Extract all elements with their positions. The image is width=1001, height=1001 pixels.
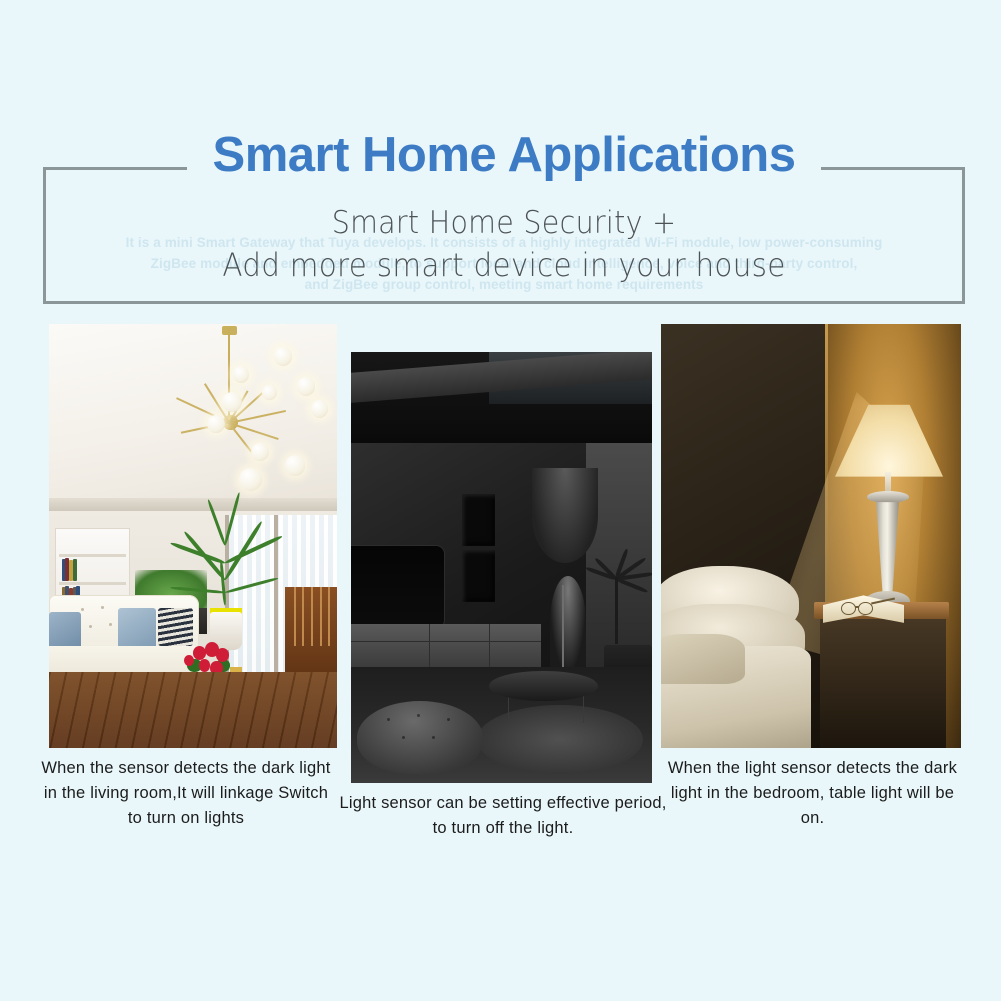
wall-niche — [462, 550, 495, 602]
area-rug — [477, 705, 643, 774]
caption-dark-living-room: Light sensor can be setting effective pe… — [338, 791, 668, 841]
chandelier-bulb — [207, 415, 224, 433]
round-ottoman — [357, 701, 483, 774]
cushion — [158, 608, 193, 646]
curtain — [532, 468, 598, 563]
panel-living-room-image — [49, 324, 337, 748]
chandelier-canopy — [222, 326, 236, 335]
chandelier-bulb — [222, 392, 242, 412]
chandelier-bulb — [285, 455, 305, 475]
chandelier-bulb — [274, 347, 293, 366]
tv-cabinet — [351, 624, 541, 667]
eyeglasses-bridge — [855, 606, 859, 608]
eyeglasses-lens — [858, 602, 873, 616]
lamp-neck — [885, 472, 892, 493]
header-frame: It is a mini Smart Gateway that Tuya dev… — [43, 167, 965, 304]
chandelier-bulb — [239, 468, 262, 491]
caption-bedroom: When the light sensor detects the dark l… — [665, 756, 960, 831]
subtitle-container: Smart Home Security + Add more smart dev… — [46, 202, 962, 286]
cushion — [49, 612, 81, 650]
page-title-container: Smart Home Applications — [46, 126, 962, 184]
television — [351, 546, 444, 628]
page-title: Smart Home Applications — [187, 126, 822, 184]
cushion — [118, 608, 155, 650]
subtitle-line-1: Smart Home Security + — [83, 202, 926, 244]
chandelier-bulb — [262, 385, 276, 399]
panel-bedroom-image — [661, 324, 961, 748]
wood-floor — [49, 672, 337, 748]
chandelier-bulb — [297, 377, 316, 396]
panel-dark-living-room-image — [351, 352, 652, 783]
duvet-fold — [661, 634, 745, 685]
subtitle-line-2: Add more smart device in your house — [83, 244, 926, 286]
nightstand — [820, 608, 946, 748]
floor-lamp — [550, 576, 586, 671]
caption-living-room: When the sensor detects the dark light i… — [36, 756, 336, 831]
chandelier-bulb — [233, 366, 249, 382]
oval-coffee-table — [489, 671, 597, 701]
ceiling — [49, 324, 337, 511]
wall-niche — [462, 494, 495, 546]
cornice — [49, 498, 337, 511]
floor-lamp-stem — [562, 585, 564, 667]
